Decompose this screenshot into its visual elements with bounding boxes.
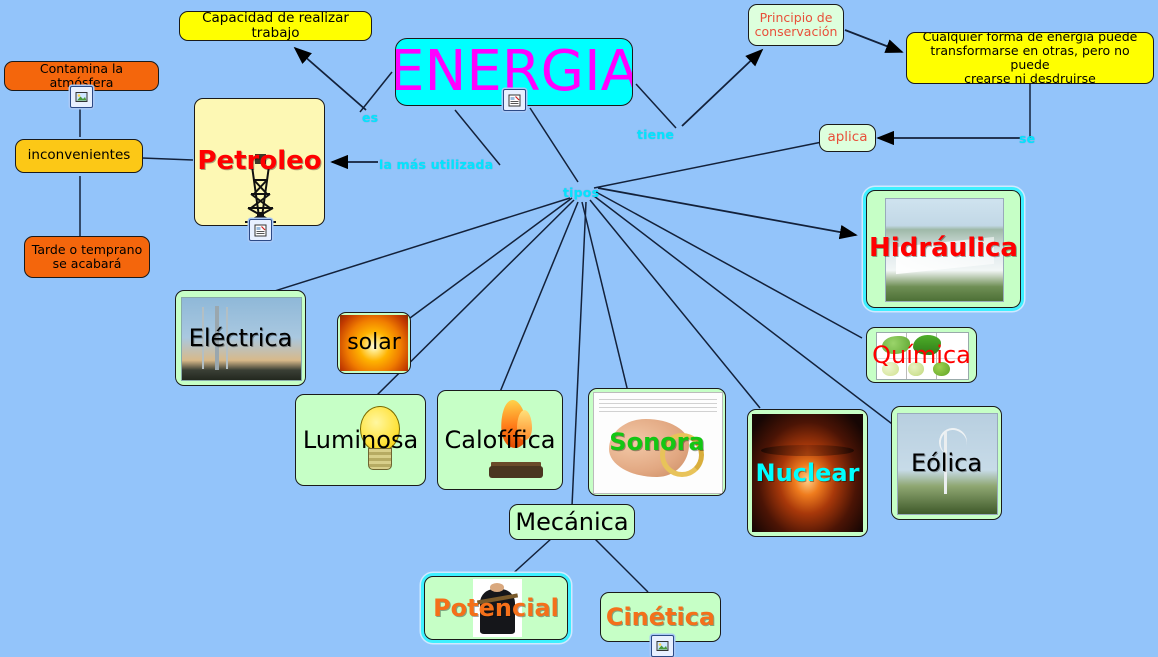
definition-label: Capacidad de realizar trabajo <box>180 11 371 41</box>
mecanica-child-label-potencial: Potencial <box>427 595 565 622</box>
petroleo-label: Petroleo <box>194 147 325 176</box>
petroleo-node[interactable]: Petroleo <box>194 98 325 226</box>
edge-label-tiene: tiene <box>637 127 674 142</box>
tipo-label-solar: solar <box>341 331 407 356</box>
tipo-label-eolica: Eólica <box>905 450 988 477</box>
tipo-node-electrica[interactable]: Eléctrica <box>175 290 306 386</box>
tipo-node-mecanica[interactable]: Mecánica <box>509 504 635 540</box>
tipo-node-sonora[interactable]: Sonora <box>588 388 726 496</box>
statement-line3: crearse ni desdruirse <box>964 71 1096 84</box>
mecanica-child-label-cinetica: Cinética <box>600 604 721 631</box>
principio-line2: conservación <box>755 24 838 39</box>
picture-icon[interactable] <box>651 635 674 657</box>
inconvenientes-node[interactable]: inconvenientes <box>15 139 143 173</box>
consequence-acabara-label: Tarde o temprano se acabará <box>26 243 148 271</box>
tipo-label-sonora: Sonora <box>603 429 710 456</box>
aplica-label: aplica <box>821 130 873 145</box>
edge-label-se: se <box>1019 131 1035 146</box>
statement-line2: transformarse en otras, pero no puede <box>930 43 1129 72</box>
definition-node[interactable]: Capacidad de realizar trabajo <box>179 11 372 41</box>
tipo-label-quimica: Química <box>866 342 977 369</box>
tipo-node-eolica[interactable]: Eólica <box>891 406 1002 520</box>
tipo-node-calofifica[interactable]: Calofífica <box>437 390 563 490</box>
aplica-node[interactable]: aplica <box>819 124 876 152</box>
tipo-node-hidraulica[interactable]: Hidráulica <box>866 190 1021 308</box>
tipo-label-nuclear: Nuclear <box>750 460 866 487</box>
tipo-node-nuclear[interactable]: Nuclear <box>747 409 868 537</box>
tipo-label-luminosa: Luminosa <box>297 427 424 454</box>
consequence-acabara-node[interactable]: Tarde o temprano se acabará <box>24 236 150 278</box>
tipo-node-luminosa[interactable]: Luminosa <box>295 394 426 486</box>
tipo-label-mecanica: Mecánica <box>509 509 634 536</box>
tipo-label-calofifica: Calofífica <box>439 427 562 454</box>
acabara-line2: se acabará <box>53 256 122 271</box>
note-icon[interactable] <box>249 219 272 241</box>
conservation-statement-label: Cualquier forma de energia puede transfo… <box>907 32 1153 84</box>
tipo-label-electrica: Eléctrica <box>183 325 299 352</box>
edge-label-tipos: tipos <box>563 185 599 200</box>
mindmap-canvas[interactable]: es tiene tipos la más utilizada se ENERG… <box>0 0 1158 655</box>
tipo-label-hidraulica: Hidráulica <box>866 234 1021 263</box>
picture-icon[interactable] <box>70 86 93 108</box>
principio-conservacion-node[interactable]: Principio de conservación <box>748 4 844 46</box>
edge-label-es: es <box>362 110 378 125</box>
principio-line1: Principio de <box>760 10 833 25</box>
conservation-statement-node[interactable]: Cualquier forma de energia puede transfo… <box>906 32 1154 84</box>
acabara-line1: Tarde o temprano <box>32 242 142 257</box>
inconvenientes-label: inconvenientes <box>22 148 137 163</box>
tipo-node-quimica[interactable]: Química <box>866 327 977 383</box>
principio-conservacion-label: Principio de conservación <box>749 11 844 39</box>
mecanica-child-node-potencial[interactable]: Potencial <box>424 576 568 640</box>
note-icon[interactable] <box>503 89 526 111</box>
tipo-node-solar[interactable]: solar <box>337 312 411 374</box>
edge-label-la-mas-utilizada: la más utilizada <box>379 157 493 172</box>
